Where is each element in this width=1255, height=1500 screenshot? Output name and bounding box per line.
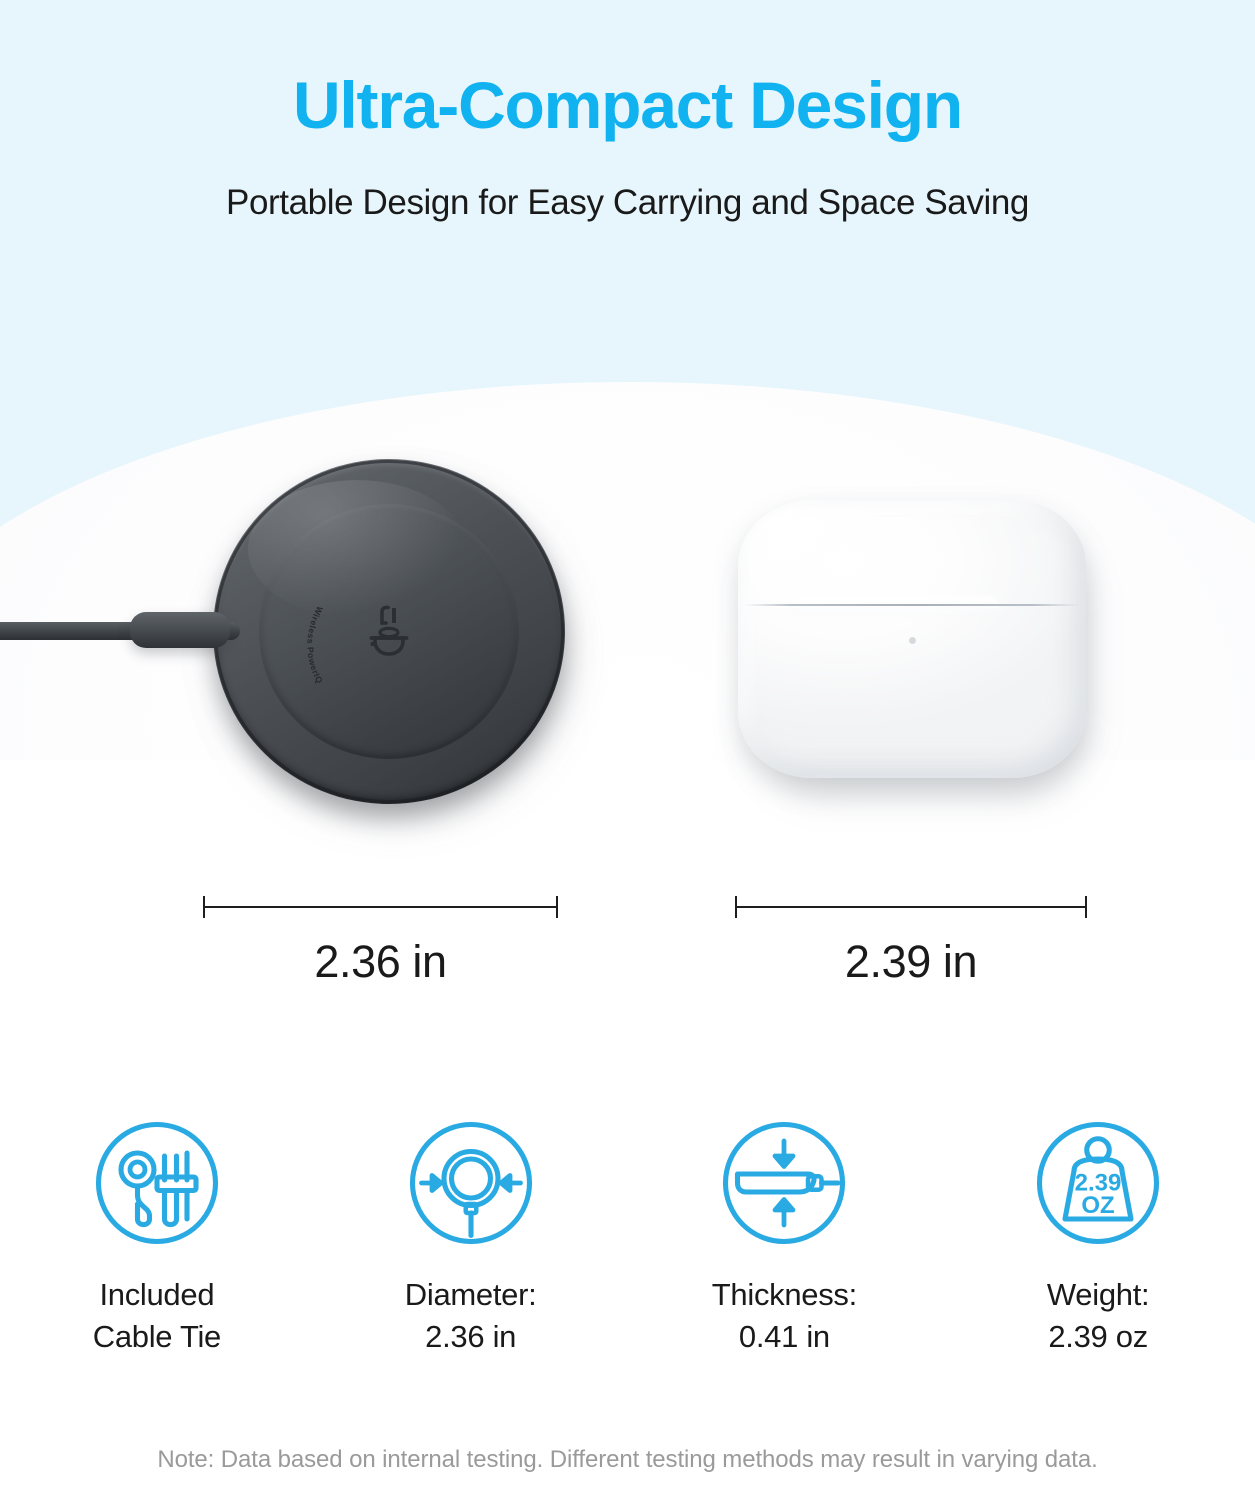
feature-label: Diameter: 2.36 in [405,1274,537,1358]
feature-diameter: Diameter: 2.36 in [314,1108,628,1358]
dimension-line [735,896,1087,918]
dimension-label: 2.36 in [203,938,558,985]
dimension-charging-pad: 2.36 in [203,896,558,985]
cable-tie-icon [82,1108,232,1258]
infographic-page: Ultra-Compact Design Portable Design for… [0,0,1255,1500]
dimension-line [203,896,558,918]
feature-included-cable-tie: Included Cable Tie [0,1108,314,1358]
dimension-callouts: 2.36 in 2.39 in [0,0,1255,1000]
feature-label: Included Cable Tie [93,1274,221,1358]
feature-weight: 2.39 OZ Weight: 2.39 oz [941,1108,1255,1358]
dimension-cap-right [1085,896,1087,918]
diameter-icon [396,1108,546,1258]
feature-thickness: Thickness: 0.41 in [628,1108,942,1358]
thickness-icon [709,1108,859,1258]
weight-icon-unit: OZ [1081,1192,1114,1219]
dimension-bar [735,906,1087,908]
dimension-bar [203,906,558,908]
weight-icon: 2.39 OZ [1023,1108,1173,1258]
dimension-label: 2.39 in [735,938,1087,985]
dimension-airpods-case: 2.39 in [735,896,1087,985]
feature-list: Included Cable Tie Diameter: 2.36 in [0,1108,1255,1358]
feature-label: Thickness: 0.41 in [712,1274,857,1358]
footnote: Note: Data based on internal testing. Di… [0,1443,1255,1478]
feature-label: Weight: 2.39 oz [1047,1274,1149,1358]
dimension-cap-right [556,896,558,918]
